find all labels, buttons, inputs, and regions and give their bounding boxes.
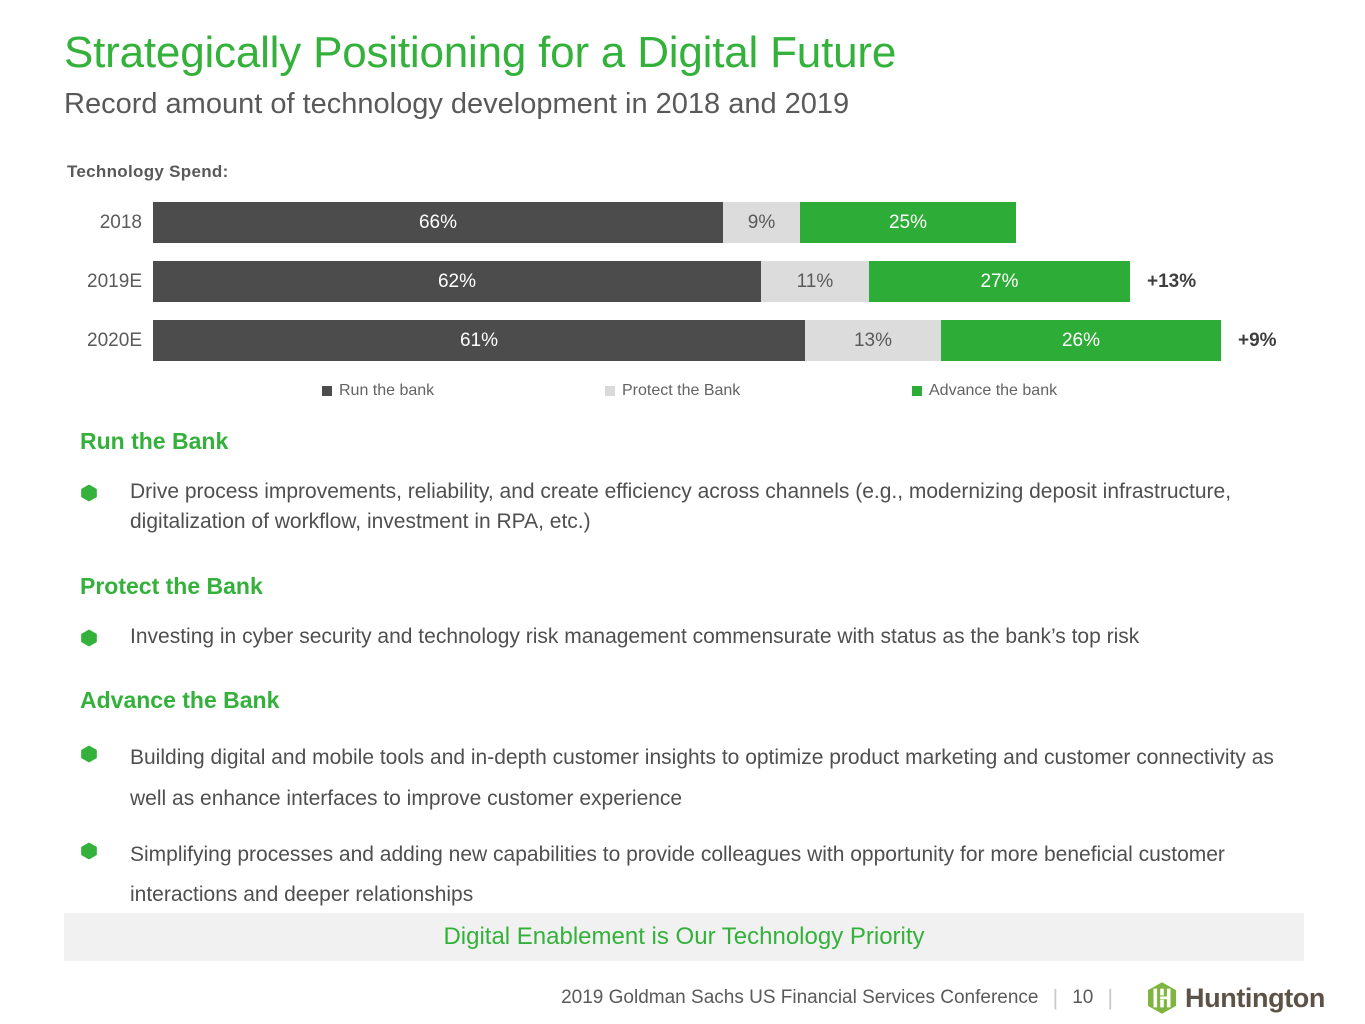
legend-swatch-icon: [322, 386, 332, 396]
legend-swatch-icon: [605, 386, 615, 396]
hexagon-bullet-icon: [80, 629, 98, 647]
legend-label: Advance the bank: [929, 382, 1057, 400]
footer-conference-name: 2019 Goldman Sachs US Financial Services…: [561, 987, 1038, 1009]
section-heading-advance-the-bank: Advance the Bank: [80, 687, 1365, 714]
chart-heading: Technology Spend:: [67, 162, 229, 182]
bar-segment-advance[interactable]: 26%: [941, 320, 1221, 361]
huntington-wordmark: Huntington: [1185, 983, 1325, 1014]
footer-divider: |: [1052, 987, 1058, 1009]
huntington-logo: Huntington: [1145, 981, 1325, 1015]
bar-segment-label: 9%: [748, 212, 775, 234]
bar-segment-label: 61%: [460, 330, 498, 352]
bullet-item: Drive process improvements, reliability,…: [80, 477, 1365, 537]
chart-row: 2020E 61% 13% 26% +9%: [64, 320, 1304, 379]
bullet-text: Drive process improvements, reliability,…: [130, 477, 1275, 537]
page-number: 10: [1072, 987, 1093, 1009]
technology-spend-chart: Technology Spend: 2018 66% 9% 25%: [64, 160, 1304, 410]
footer-divider: |: [1107, 987, 1113, 1009]
bar-segment-label: 13%: [854, 330, 892, 352]
chart-category-label: 2018: [64, 202, 142, 243]
legend-item-advance[interactable]: Advance the bank: [912, 382, 1057, 400]
page-title: Strategically Positioning for a Digital …: [64, 28, 896, 78]
bar-segment-run[interactable]: 61%: [153, 320, 805, 361]
bar-segment-label: 25%: [889, 212, 927, 234]
bar-segment-label: 11%: [797, 271, 834, 293]
chart-rows: 2018 66% 9% 25% 2019E: [64, 202, 1304, 379]
content-sections: Run the Bank Drive process improvements,…: [0, 428, 1365, 916]
bar-segment-protect[interactable]: 9%: [723, 202, 800, 243]
bar-segment-label: 27%: [980, 271, 1018, 293]
bar-segment-run[interactable]: 62%: [153, 261, 761, 302]
bullet-item: Building digital and mobile tools and in…: [80, 738, 1365, 819]
bullet-text: Investing in cyber security and technolo…: [130, 622, 1139, 652]
stacked-bar: 61% 13% 26%: [153, 320, 1221, 361]
slide-footer: 2019 Goldman Sachs US Financial Services…: [0, 978, 1365, 1018]
chart-row: 2018 66% 9% 25%: [64, 202, 1304, 261]
hexagon-bullet-icon: [80, 484, 98, 502]
bar-segment-advance[interactable]: 27%: [869, 261, 1130, 302]
chart-row: 2019E 62% 11% 27% +13%: [64, 261, 1304, 320]
stacked-bar: 66% 9% 25%: [153, 202, 1016, 243]
legend-swatch-icon: [912, 386, 922, 396]
huntington-hexagon-icon: [1145, 981, 1179, 1015]
bar-delta-annotation: +13%: [1147, 261, 1196, 302]
bar-segment-advance[interactable]: 25%: [800, 202, 1016, 243]
bullet-text: Building digital and mobile tools and in…: [130, 738, 1275, 819]
legend-label: Protect the Bank: [622, 382, 740, 400]
bar-delta-annotation: +9%: [1238, 320, 1277, 361]
bullet-text: Simplifying processes and adding new cap…: [130, 835, 1275, 916]
hexagon-bullet-icon: [80, 745, 98, 763]
legend-item-protect[interactable]: Protect the Bank: [605, 382, 740, 400]
slide-root: Strategically Positioning for a Digital …: [0, 0, 1365, 1024]
bar-segment-label: 66%: [419, 212, 457, 234]
page-subtitle: Record amount of technology development …: [64, 88, 849, 121]
section-heading-protect-the-bank: Protect the Bank: [80, 573, 1365, 600]
section-heading-run-the-bank: Run the Bank: [80, 428, 1365, 455]
bar-segment-protect[interactable]: 13%: [805, 320, 941, 361]
bullet-item: Investing in cyber security and technolo…: [80, 622, 1365, 652]
bar-segment-run[interactable]: 66%: [153, 202, 723, 243]
stacked-bar: 62% 11% 27%: [153, 261, 1130, 302]
chart-category-label: 2019E: [64, 261, 142, 302]
legend-label: Run the bank: [339, 382, 434, 400]
chart-category-label: 2020E: [64, 320, 142, 361]
chart-legend: Run the bank Protect the Bank Advance th…: [64, 382, 1304, 406]
bar-segment-protect[interactable]: 11%: [761, 261, 869, 302]
legend-item-run[interactable]: Run the bank: [322, 382, 434, 400]
bar-segment-label: 62%: [438, 271, 476, 293]
takeaway-banner: Digital Enablement is Our Technology Pri…: [64, 913, 1304, 961]
bullet-item: Simplifying processes and adding new cap…: [80, 835, 1365, 916]
banner-text: Digital Enablement is Our Technology Pri…: [443, 923, 924, 951]
hexagon-bullet-icon: [80, 842, 98, 860]
bar-segment-label: 26%: [1062, 330, 1100, 352]
